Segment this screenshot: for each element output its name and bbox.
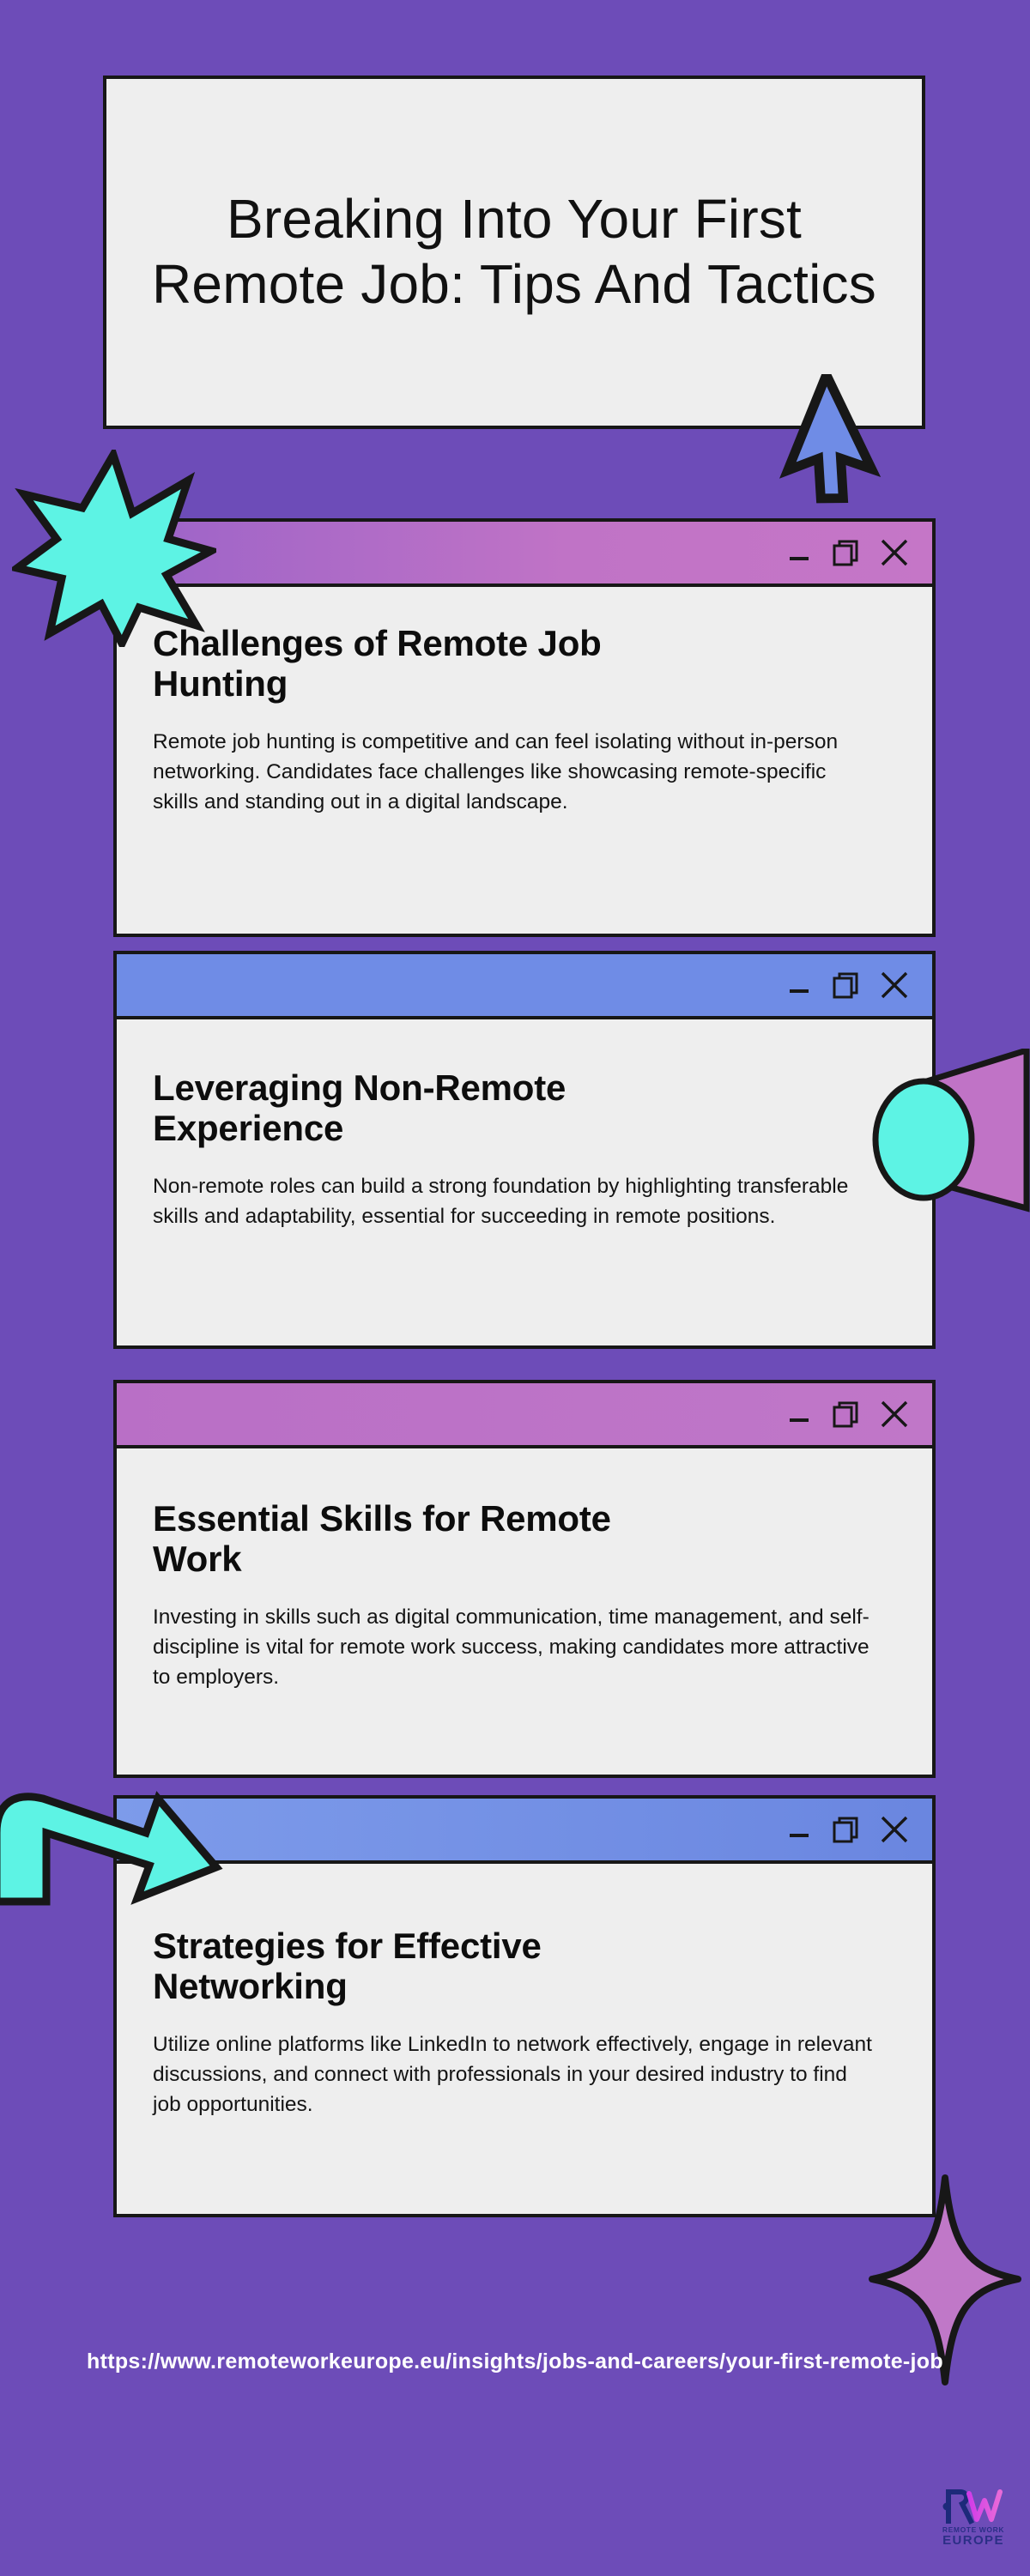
card-4-body: Strategies for Effective Networking Util… bbox=[117, 1864, 932, 2146]
close-icon[interactable] bbox=[879, 970, 910, 1001]
page-title: Breaking Into Your First Remote Job: Tip… bbox=[106, 187, 922, 317]
restore-icon[interactable] bbox=[831, 971, 860, 1000]
card-3-body: Essential Skills for Remote Work Investi… bbox=[117, 1448, 932, 1719]
infographic-canvas: Breaking Into Your First Remote Job: Tip… bbox=[0, 0, 1030, 2576]
card-3-text: Investing in skills such as digital comm… bbox=[153, 1602, 874, 1693]
card-window-1[interactable]: Challenges of Remote Job Hunting Remote … bbox=[113, 518, 936, 937]
card-2-body: Leveraging Non-Remote Experience Non-rem… bbox=[117, 1019, 932, 1257]
minimize-icon[interactable] bbox=[786, 972, 812, 998]
close-icon[interactable] bbox=[879, 1814, 910, 1845]
card-4-titlebar[interactable] bbox=[117, 1799, 932, 1864]
restore-icon[interactable] bbox=[831, 538, 860, 567]
hero-title-card: Breaking Into Your First Remote Job: Tip… bbox=[103, 76, 925, 429]
card-2-text: Non-remote roles can build a strong foun… bbox=[153, 1171, 874, 1232]
restore-icon[interactable] bbox=[831, 1815, 860, 1844]
card-4-text: Utilize online platforms like LinkedIn t… bbox=[153, 2029, 874, 2120]
close-icon[interactable] bbox=[879, 537, 910, 568]
card-1-titlebar[interactable] bbox=[117, 522, 932, 587]
card-2-titlebar[interactable] bbox=[117, 954, 932, 1019]
card-window-2[interactable]: Leveraging Non-Remote Experience Non-rem… bbox=[113, 951, 936, 1349]
minimize-icon[interactable] bbox=[786, 1817, 812, 1842]
card-window-3[interactable]: Essential Skills for Remote Work Investi… bbox=[113, 1380, 936, 1778]
card-1-heading: Challenges of Remote Job Hunting bbox=[153, 623, 702, 704]
minimize-icon[interactable] bbox=[786, 1401, 812, 1427]
card-1-text: Remote job hunting is competitive and ca… bbox=[153, 727, 874, 818]
minimize-icon[interactable] bbox=[786, 540, 812, 565]
card-2-heading: Leveraging Non-Remote Experience bbox=[153, 1067, 702, 1149]
card-3-titlebar[interactable] bbox=[117, 1383, 932, 1448]
card-4-heading: Strategies for Effective Networking bbox=[153, 1926, 702, 2007]
card-window-4[interactable]: Strategies for Effective Networking Util… bbox=[113, 1795, 936, 2217]
logo-line-2: EUROPE bbox=[932, 2533, 1015, 2548]
card-3-heading: Essential Skills for Remote Work bbox=[153, 1498, 702, 1580]
card-1-body: Challenges of Remote Job Hunting Remote … bbox=[117, 587, 932, 844]
restore-icon[interactable] bbox=[831, 1400, 860, 1429]
footer-source-url[interactable]: https://www.remoteworkeurope.eu/insights… bbox=[0, 2349, 1030, 2374]
rw-monogram-icon bbox=[932, 2487, 1015, 2525]
close-icon[interactable] bbox=[879, 1399, 910, 1430]
brand-logo: REMOTE WORK EUROPE bbox=[932, 2487, 1015, 2557]
footer-url-text: https://www.remoteworkeurope.eu/insights… bbox=[87, 2349, 943, 2373]
